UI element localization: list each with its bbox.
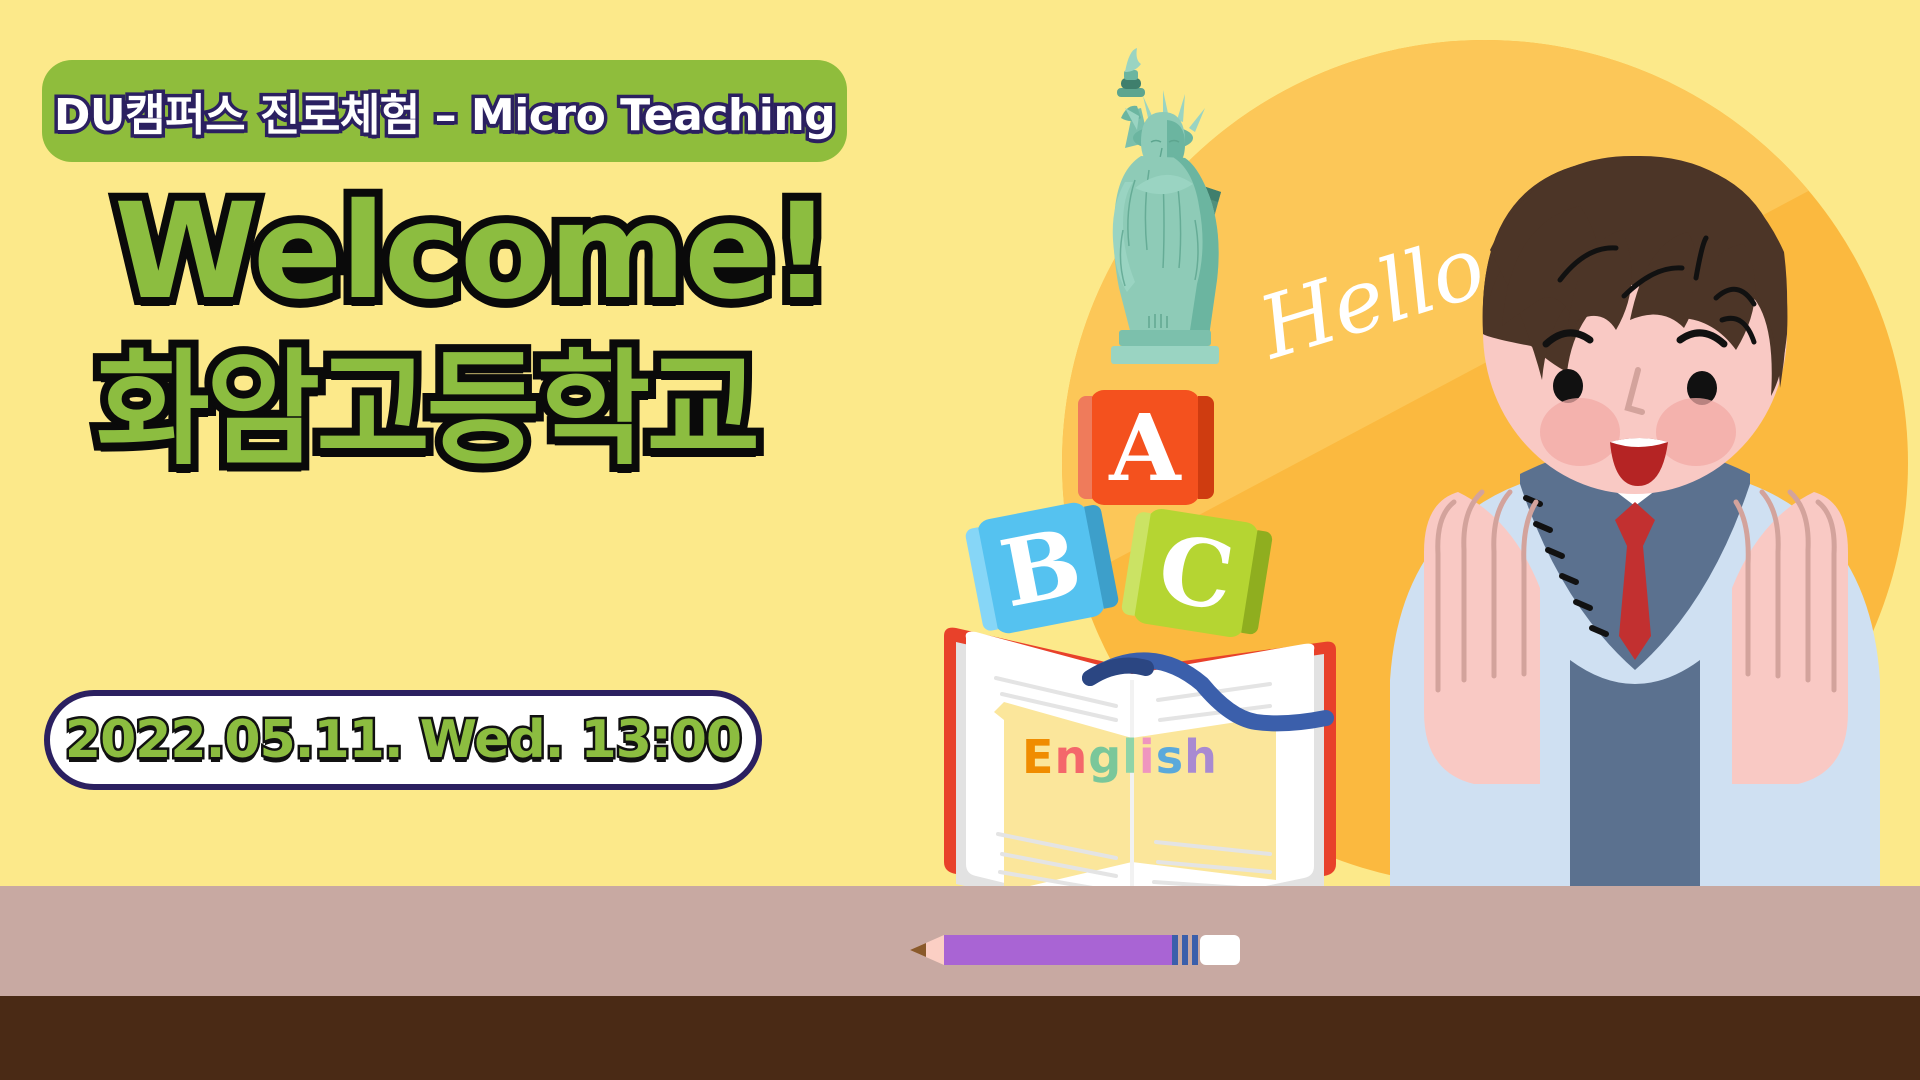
letter-block-a: A (1090, 390, 1200, 505)
english-letter-n: n (1054, 730, 1088, 784)
letter-block-a-label: A (1109, 394, 1180, 502)
english-letter-s: s (1156, 730, 1184, 784)
english-letter-h: h (1184, 730, 1218, 784)
letter-block-c-label: C (1151, 514, 1240, 632)
english-letter-l: l (1122, 730, 1139, 784)
date-time-pill: 2022.05.11. Wed. 13:00 (44, 690, 762, 790)
event-banner-label: DU캠퍼스 진로체험 – Micro Teaching (54, 79, 835, 143)
floor-strip (0, 996, 1920, 1080)
pencil-illustration (910, 930, 1240, 970)
poster-canvas: A B C (0, 0, 1920, 1080)
headline-school-name: 화암고등학교 (96, 348, 856, 472)
headline-welcome: Welcome! (114, 186, 856, 318)
headline-block: Welcome! 화암고등학교 (96, 186, 856, 472)
english-letter-i: i (1139, 730, 1156, 784)
date-time-label: 2022.05.11. Wed. 13:00 (65, 710, 741, 770)
letter-block-b-label: B (993, 508, 1090, 629)
event-banner: DU캠퍼스 진로체험 – Micro Teaching (42, 60, 847, 162)
letter-block-b: B (975, 500, 1107, 635)
statue-of-liberty-illustration (1063, 30, 1263, 370)
english-letter-e: E (1022, 730, 1054, 784)
english-letter-g: g (1088, 730, 1122, 784)
english-word-label: English (1022, 730, 1262, 784)
